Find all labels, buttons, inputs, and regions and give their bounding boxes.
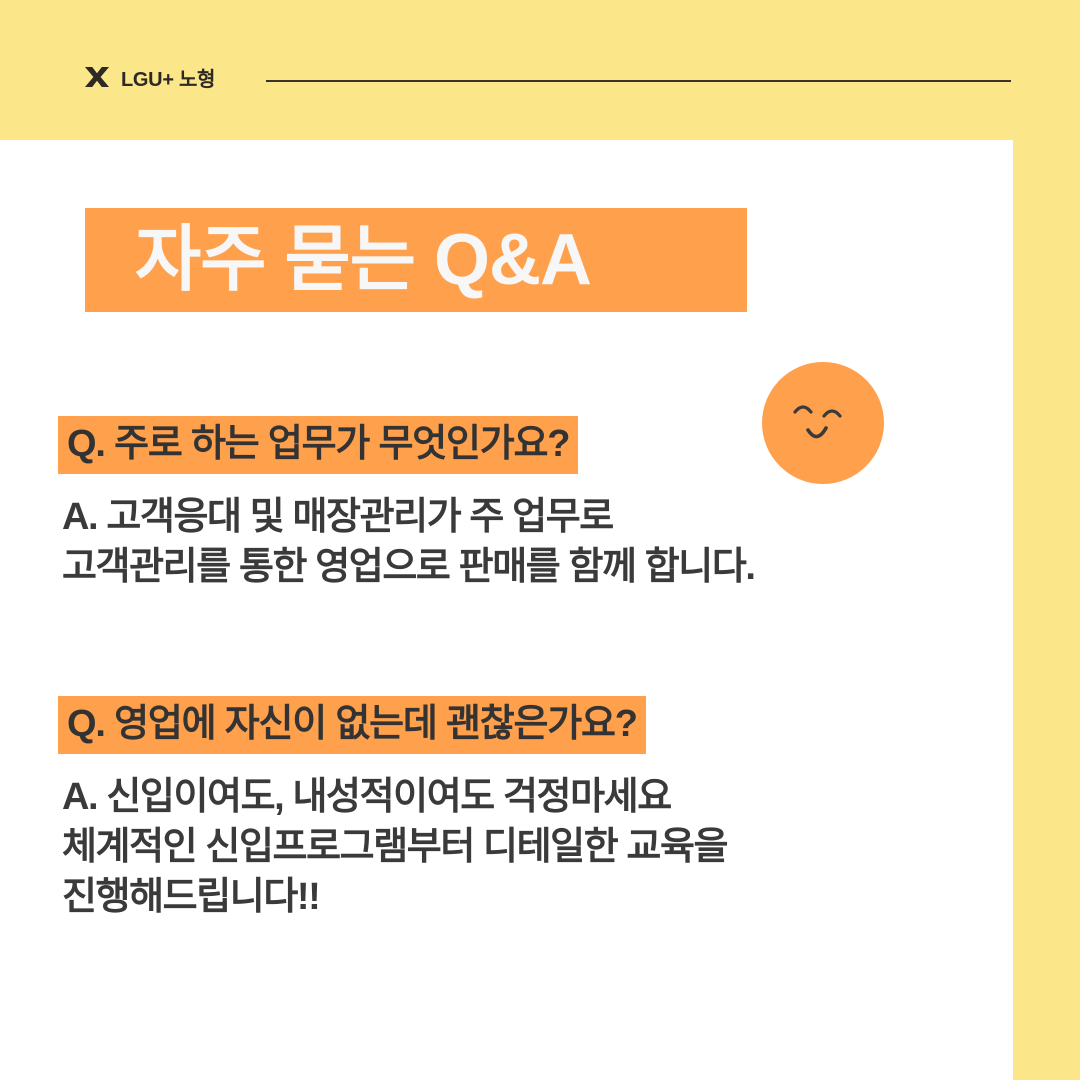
faq-item-2: Q. 영업에 자신이 없는데 괜찮은가요? A. 신입이여도, 내성적이여도 걱… (0, 696, 727, 922)
faq-answer: A. 고객응대 및 매장관리가 주 업무로 고객관리를 통한 영업으로 판매를 … (62, 492, 755, 592)
title-banner: 자주 묻는 Q&A (85, 208, 747, 312)
faq-item-1: Q. 주로 하는 업무가 무엇인가요? A. 고객응대 및 매장관리가 주 업무… (0, 416, 755, 592)
brand-name: LGU+ 노형 (121, 63, 215, 92)
smiling-face-icon (762, 362, 884, 484)
brand-lockup: LGU+ 노형 (84, 60, 215, 94)
faq-answer-line: 고객관리를 통한 영업으로 판매를 함께 합니다. (62, 542, 755, 592)
smiley-features (762, 362, 884, 484)
right-yellow-band (1013, 0, 1080, 1080)
faq-question: Q. 주로 하는 업무가 무엇인가요? (58, 416, 578, 474)
faq-answer-line: A. 고객응대 및 매장관리가 주 업무로 (62, 492, 755, 542)
lgu-x-mark-icon (84, 64, 110, 90)
faq-answer-line: 체계적인 신입프로그램부터 디테일한 교육을 (62, 822, 727, 872)
faq-answer-line: 진행해드립니다!! (62, 872, 727, 922)
faq-answer: A. 신입이여도, 내성적이여도 걱정마세요 체계적인 신입프로그램부터 디테일… (62, 772, 727, 922)
faq-answer-line: A. 신입이여도, 내성적이여도 걱정마세요 (62, 772, 727, 822)
faq-question: Q. 영업에 자신이 없는데 괜찮은가요? (58, 696, 646, 754)
page-title: 자주 묻는 Q&A (135, 224, 591, 296)
header-divider (266, 80, 1011, 82)
faq-card: LGU+ 노형 자주 묻는 Q&A Q. 주로 하는 업무가 무엇인가요? A.… (0, 0, 1080, 1080)
